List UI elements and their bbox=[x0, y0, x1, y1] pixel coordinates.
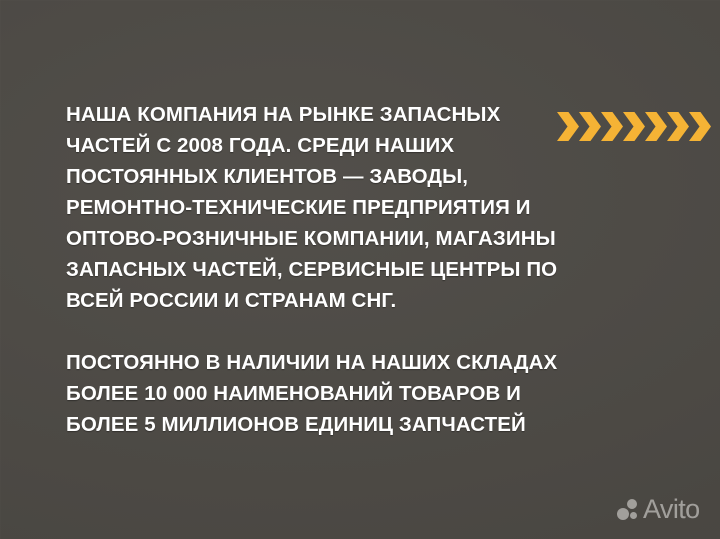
stock-availability-paragraph: ПОСТОЯННО В НАЛИЧИИ НА НАШИХ СКЛАДАХ БОЛ… bbox=[66, 347, 586, 440]
company-history-paragraph: НАША КОМПАНИЯ НА РЫНКЕ ЗАПАСНЫХ ЧАСТЕЙ С… bbox=[66, 99, 586, 316]
chevron-arrow-strip bbox=[557, 112, 720, 141]
avito-wordmark: Avito bbox=[643, 496, 700, 523]
chevron-right-icon bbox=[667, 112, 689, 141]
chevron-right-icon bbox=[557, 112, 579, 141]
chevron-right-icon bbox=[579, 112, 601, 141]
avito-dot-small bbox=[630, 512, 637, 519]
chevron-right-icon bbox=[601, 112, 623, 141]
chevron-right-icon bbox=[689, 112, 711, 141]
avito-dots-icon bbox=[617, 498, 640, 521]
chevron-right-icon bbox=[645, 112, 667, 141]
avito-dot-large bbox=[617, 508, 629, 520]
description-text-block: НАША КОМПАНИЯ НА РЫНКЕ ЗАПАСНЫХ ЧАСТЕЙ С… bbox=[66, 99, 586, 440]
chevron-right-icon bbox=[623, 112, 645, 141]
avito-dot-medium bbox=[627, 499, 637, 509]
avito-watermark: Avito bbox=[617, 494, 700, 524]
listing-image-canvas: НАША КОМПАНИЯ НА РЫНКЕ ЗАПАСНЫХ ЧАСТЕЙ С… bbox=[0, 0, 720, 539]
